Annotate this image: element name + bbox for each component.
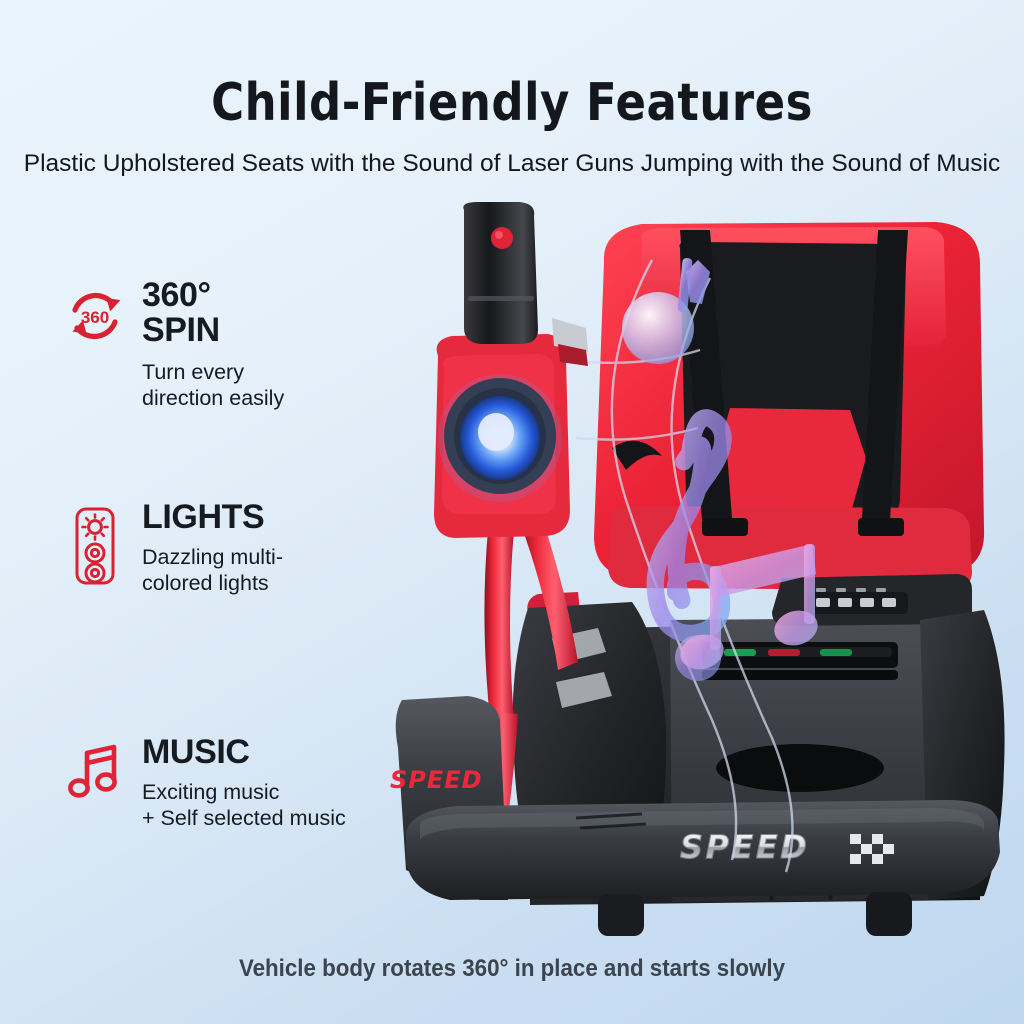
led-headlight — [438, 374, 562, 502]
feature-item-lights: LIGHTS Dazzling multi- colored lights — [52, 500, 283, 596]
rotate-360-icon-label: 360 — [81, 308, 109, 327]
bottom-caption: Vehicle body rotates 360° in place and s… — [36, 955, 988, 983]
controller-red-button[interactable] — [491, 227, 513, 249]
feature-description: Turn every direction easily — [142, 359, 284, 411]
cup-holder — [716, 744, 884, 792]
laser-gun-controller — [434, 202, 588, 538]
feature-text-group: LIGHTS Dazzling multi- colored lights — [138, 500, 283, 596]
feature-description: Exciting music + Self selected music — [142, 779, 346, 831]
feature-item-music: MUSIC Exciting music + Self selected mus… — [52, 735, 346, 831]
bumper-foot-right — [866, 892, 912, 936]
seat-center-pad — [716, 408, 866, 516]
bumper-foot-left — [598, 894, 644, 936]
product-image-go-kart: SPEED — [380, 200, 1024, 960]
feature-heading: LIGHTS — [142, 500, 283, 535]
music-note-icon — [52, 735, 138, 805]
feature-heading: 360° SPIN — [142, 278, 284, 348]
go-kart-illustration: SPEED — [380, 200, 1024, 960]
feature-text-group: 360° SPIN Turn every direction easily — [138, 278, 284, 411]
feature-description: Dazzling multi- colored lights — [142, 544, 283, 596]
header: Child-Friendly Features Plastic Upholste… — [0, 0, 1024, 180]
side-skirt-badge-text: SPEED — [390, 766, 483, 794]
feature-item-360-spin: 360 360° SPIN Turn every direction easil… — [52, 278, 284, 411]
rotate-360-icon: 360 — [52, 278, 138, 348]
feature-heading: MUSIC — [142, 735, 346, 770]
feature-text-group: MUSIC Exciting music + Self selected mus… — [138, 735, 346, 831]
page-title: Child-Friendly Features — [0, 72, 1024, 132]
controller-grip — [463, 202, 538, 344]
seat-assembly: SPEED — [594, 222, 984, 590]
traffic-lights-icon — [52, 500, 138, 586]
page-subtitle: Plastic Upholstered Seats with the Sound… — [0, 149, 1024, 180]
